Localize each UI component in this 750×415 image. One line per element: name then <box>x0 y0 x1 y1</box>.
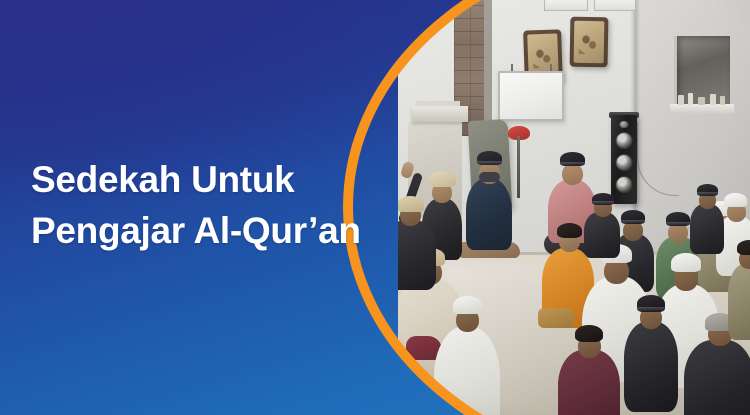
stacked-items <box>412 106 468 122</box>
speaker-tower <box>611 115 637 204</box>
speaker-driver <box>616 154 633 171</box>
attendee-body <box>558 350 620 415</box>
attendee-cap <box>697 184 718 196</box>
attendee-cap <box>592 193 614 205</box>
attendee-body <box>398 220 436 290</box>
patterned-sarong <box>538 308 574 328</box>
man-head <box>562 163 583 185</box>
calligraphy-plaque-right <box>570 17 609 68</box>
ventilation-window-left <box>544 0 588 11</box>
stand-pole <box>517 136 520 198</box>
attendee-cap <box>637 295 665 312</box>
attendee-hair <box>575 325 603 342</box>
attendee-cap <box>724 193 747 207</box>
ventilation-window-right <box>594 0 636 11</box>
title-line-2: Pengajar Al-Qur’an <box>31 205 401 256</box>
attendee-body <box>584 212 620 258</box>
speaker-tweeter <box>620 121 629 128</box>
attendee-kopiah <box>453 296 482 314</box>
sill-objects <box>676 92 730 105</box>
attendee-body <box>684 340 750 415</box>
whiteboard <box>498 71 564 121</box>
teacher-vest <box>466 178 512 250</box>
title-line-1: Sedekah Untuk <box>31 154 401 205</box>
attendee-body <box>690 204 724 254</box>
attendee-cap <box>621 210 645 224</box>
speaker-driver <box>616 132 633 149</box>
attendee-body <box>624 322 678 412</box>
attendee-hair <box>737 240 750 255</box>
attendee-hair <box>557 223 582 238</box>
attendee-kopiah <box>671 253 701 272</box>
event-photo <box>398 0 750 415</box>
teacher-peci-cap <box>477 151 502 165</box>
pillar-shadow <box>484 0 492 120</box>
promo-banner: Sedekah Untuk Pengajar Al-Qur’an <box>0 0 750 415</box>
page-title: Sedekah Untuk Pengajar Al-Qur’an <box>31 154 401 256</box>
calligraphy-glyph <box>579 30 599 54</box>
speaker-driver <box>616 176 633 193</box>
attendee-cap <box>666 212 690 226</box>
teacher-face-mask <box>479 172 500 182</box>
child-kopiah-cap <box>429 171 456 187</box>
man-peci-cap <box>560 152 585 166</box>
attendee-kopiah <box>398 196 424 212</box>
window-sill <box>670 104 734 114</box>
attendee-body <box>728 264 750 340</box>
plaque-inner <box>574 21 605 64</box>
